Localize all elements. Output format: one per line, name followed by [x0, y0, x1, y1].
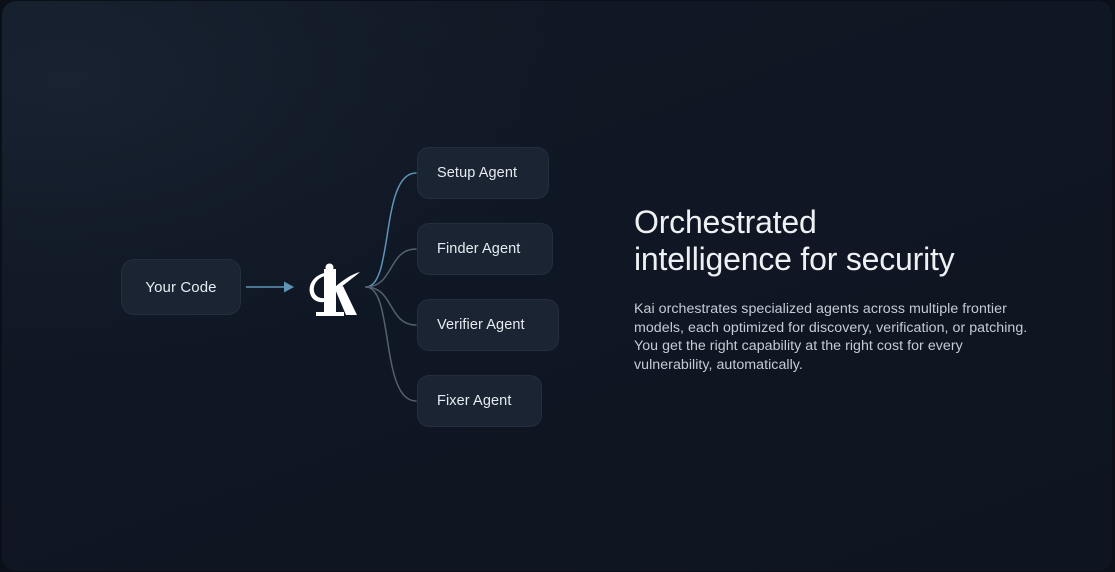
agent-card-setup[interactable]: Setup Agent [417, 147, 549, 199]
agent-card-verifier[interactable]: Verifier Agent [417, 299, 559, 351]
connector-verifier-agent [366, 287, 416, 325]
arrow-right-icon [246, 282, 294, 293]
page-container: Your Code Setup Agent Finder Agent [2, 1, 1112, 571]
heading-line-1: Orchestrated [634, 204, 817, 240]
section-body-text: Kai orchestrates specialized agents acro… [634, 300, 1044, 374]
agent-card-finder[interactable]: Finder Agent [417, 223, 553, 275]
node-your-code-label: Your Code [145, 279, 216, 296]
node-your-code[interactable]: Your Code [121, 259, 241, 315]
connector-fixer-agent [366, 287, 416, 401]
agent-card-label: Setup Agent [437, 165, 517, 181]
agent-card-fixer[interactable]: Fixer Agent [417, 375, 542, 427]
agent-card-label: Verifier Agent [437, 317, 525, 333]
copy-block: Orchestrated intelligence for security K… [634, 204, 1054, 389]
section-heading: Orchestrated intelligence for security [634, 204, 1054, 278]
connector-setup-agent [366, 173, 416, 287]
connector-finder-agent [366, 249, 416, 287]
heading-line-2: intelligence for security [634, 241, 955, 277]
kai-logo-k-icon [298, 253, 364, 321]
agent-card-label: Finder Agent [437, 241, 520, 257]
agent-card-label: Fixer Agent [437, 393, 511, 409]
orchestration-diagram: Your Code Setup Agent Finder Agent [2, 1, 622, 571]
